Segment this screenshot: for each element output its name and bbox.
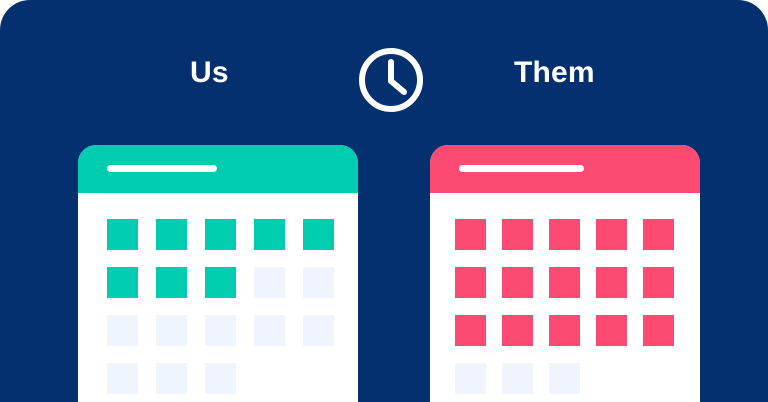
calendar-cell xyxy=(596,363,627,394)
calendar-cell xyxy=(643,363,674,394)
calendar-cell xyxy=(549,315,580,346)
calendar-cell xyxy=(254,267,285,298)
comparison-graphic: Us Them xyxy=(0,0,768,402)
calendar-cell xyxy=(205,315,236,346)
calendar-cell xyxy=(502,363,533,394)
calendar-cell xyxy=(549,219,580,250)
calendar-card-them xyxy=(430,145,700,402)
calendar-cell xyxy=(643,315,674,346)
label-us: Us xyxy=(190,54,229,92)
calendar-cell xyxy=(107,363,138,394)
calendar-cell xyxy=(502,267,533,298)
header-placeholder-bar xyxy=(107,165,217,172)
calendar-cell xyxy=(205,219,236,250)
card-header-them xyxy=(430,145,700,193)
calendar-cell xyxy=(303,315,334,346)
calendar-cell xyxy=(455,363,486,394)
calendar-cell xyxy=(596,267,627,298)
calendar-cell xyxy=(596,219,627,250)
clock-icon xyxy=(355,44,427,116)
calendar-cell xyxy=(156,219,187,250)
calendar-cell xyxy=(254,219,285,250)
calendar-cell xyxy=(643,219,674,250)
calendar-cell xyxy=(502,219,533,250)
calendar-cell xyxy=(107,315,138,346)
calendar-cell xyxy=(455,267,486,298)
calendar-cell xyxy=(156,363,187,394)
calendar-cell xyxy=(107,267,138,298)
calendar-cell xyxy=(596,315,627,346)
calendar-cell xyxy=(205,363,236,394)
calendar-cell xyxy=(156,315,187,346)
calendar-cell xyxy=(254,363,285,394)
calendar-cell xyxy=(502,315,533,346)
calendar-cell xyxy=(303,267,334,298)
calendar-cell xyxy=(107,219,138,250)
calendar-cell xyxy=(549,267,580,298)
header-placeholder-bar xyxy=(459,165,584,172)
calendar-grid-us xyxy=(107,219,334,394)
calendar-cell xyxy=(549,363,580,394)
calendar-cell xyxy=(254,315,285,346)
calendar-cell xyxy=(303,363,334,394)
card-header-us xyxy=(78,145,358,193)
calendar-cell xyxy=(455,315,486,346)
calendar-cell xyxy=(303,219,334,250)
calendar-card-us xyxy=(78,145,358,402)
calendar-cell xyxy=(205,267,236,298)
calendar-cell xyxy=(156,267,187,298)
label-them: Them xyxy=(514,54,595,92)
calendar-grid-them xyxy=(455,219,674,394)
calendar-cell xyxy=(455,219,486,250)
calendar-cell xyxy=(643,267,674,298)
